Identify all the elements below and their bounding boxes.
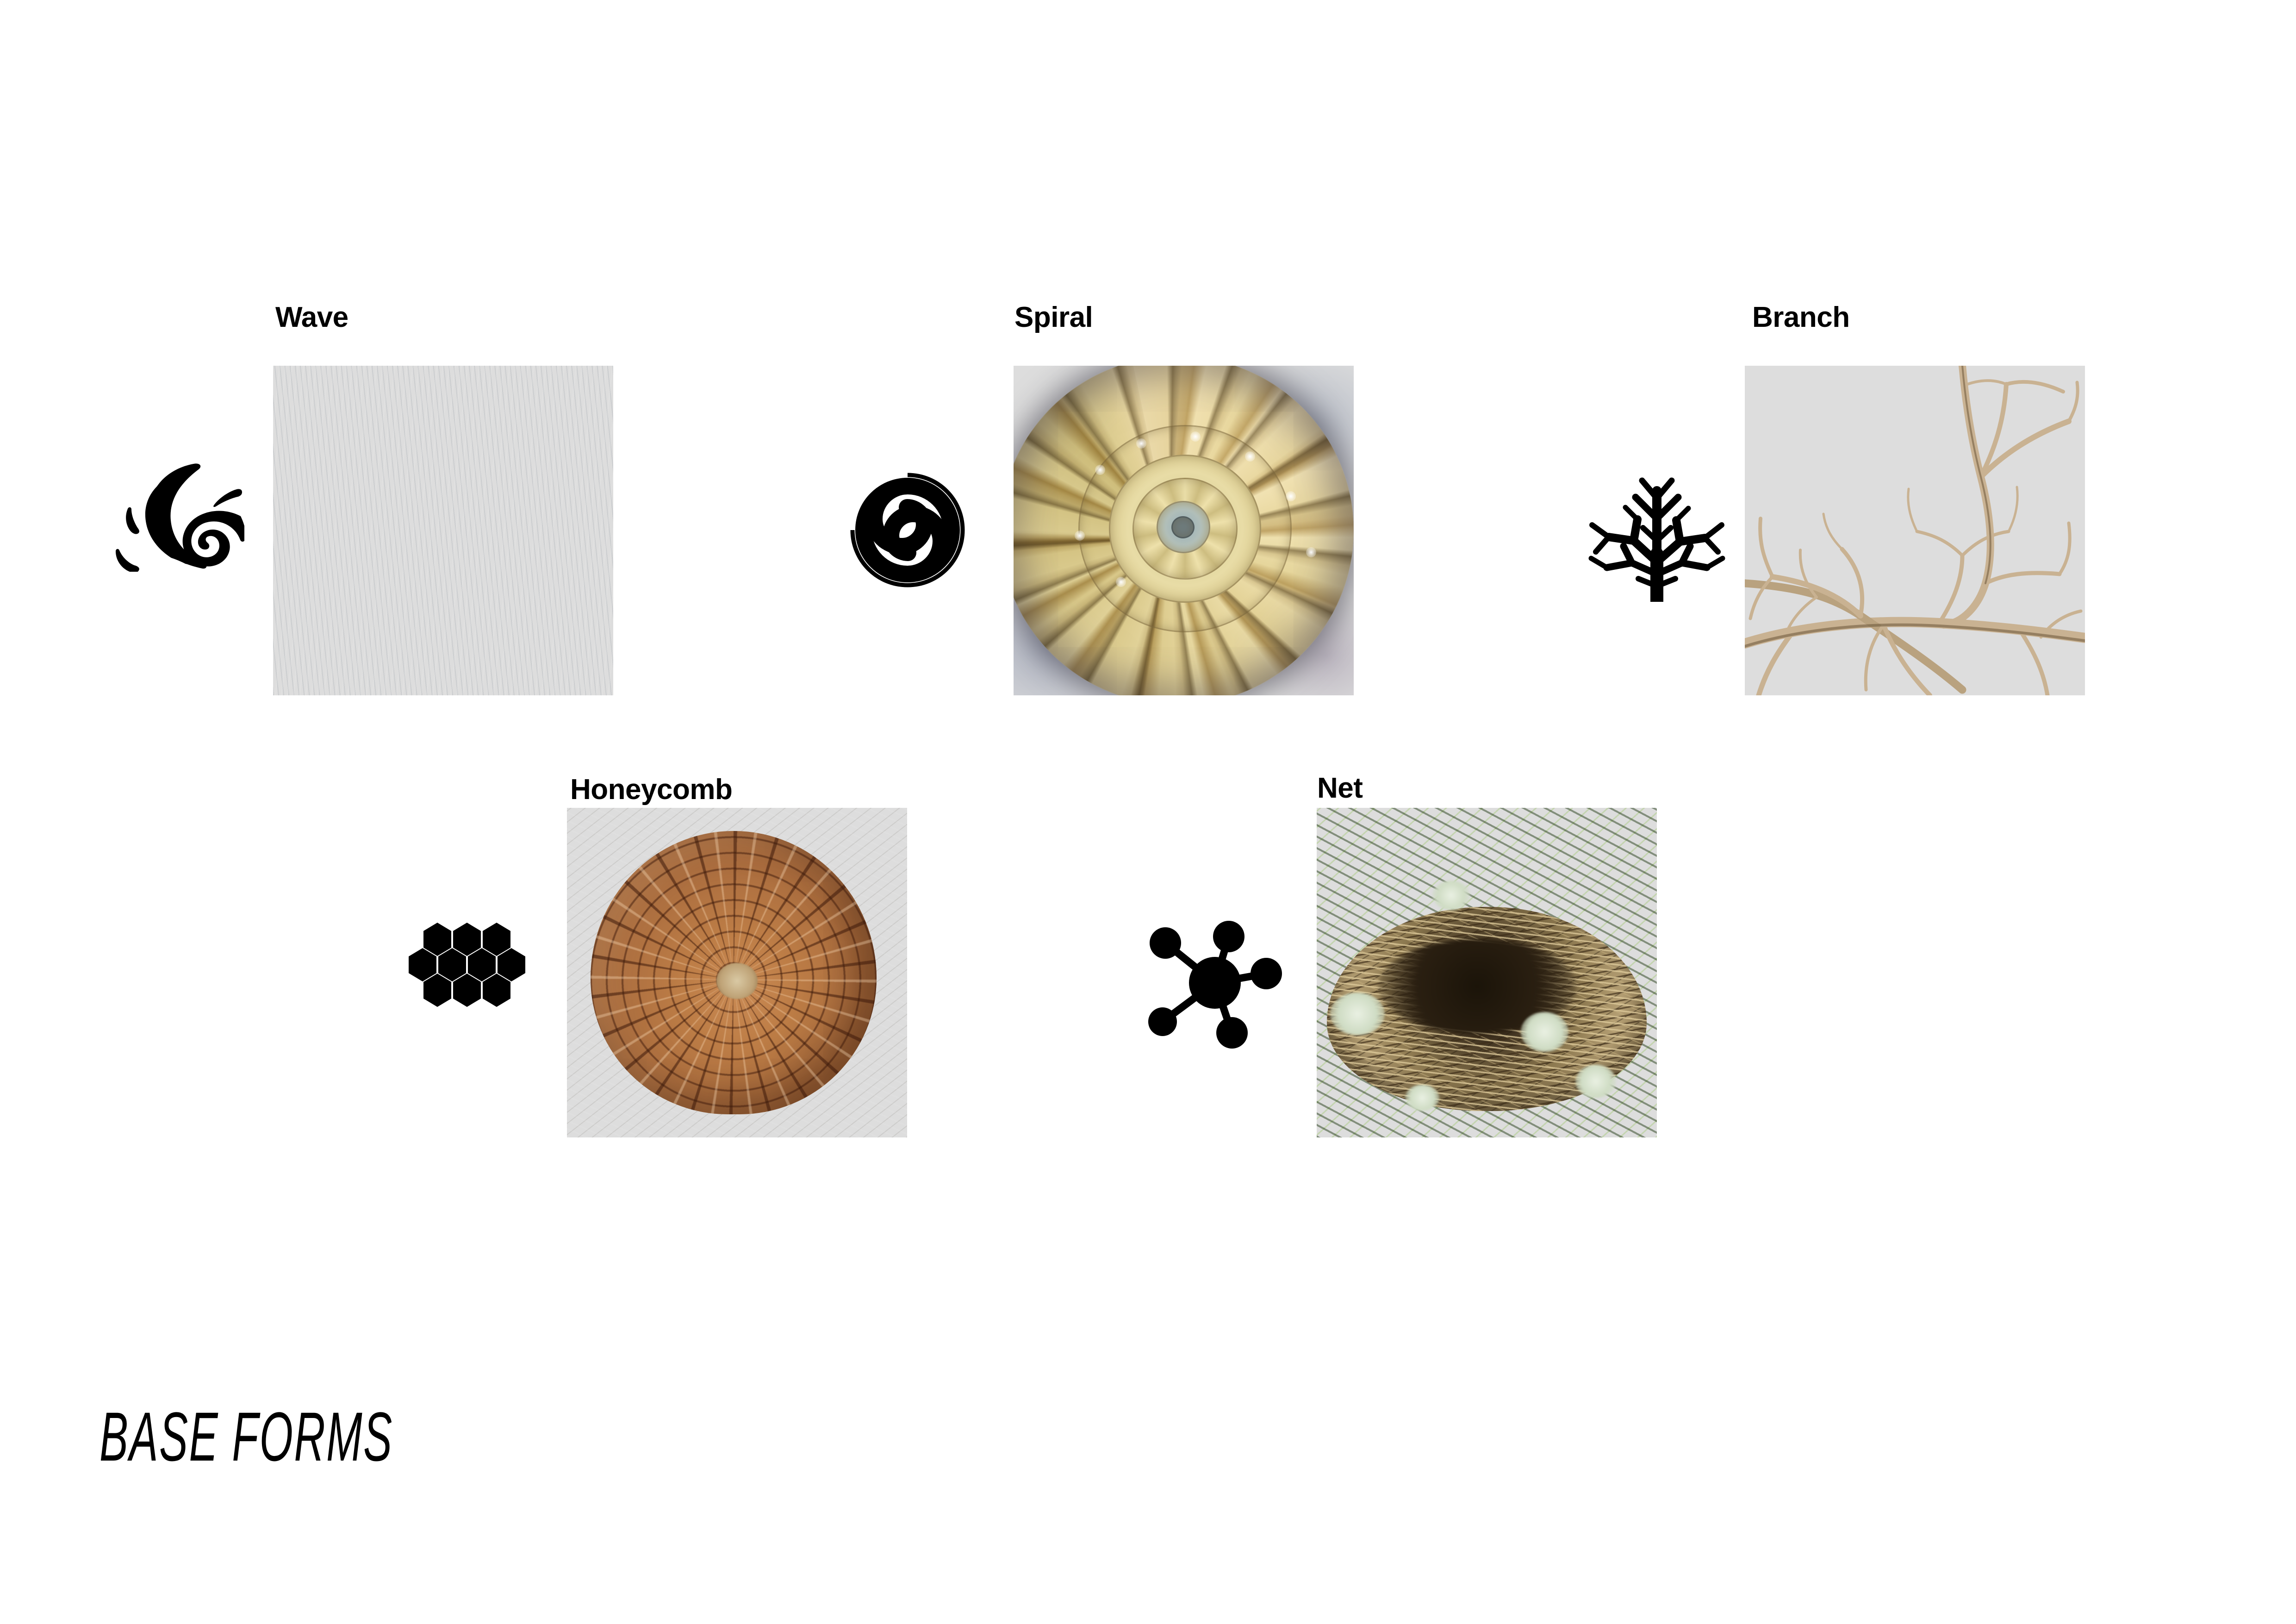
bare-branches-photo: [1745, 366, 2085, 695]
nautilus-shell-photo: [1014, 366, 1354, 695]
honeycomb-icon: [407, 919, 541, 1035]
item-label-net: Net: [1317, 774, 1363, 803]
tree-branch-icon: [1587, 463, 1726, 602]
pine-cone-photo: [567, 808, 907, 1137]
ocean-waves-photo: [273, 366, 613, 695]
item-label-wave: Wave: [275, 303, 348, 332]
slide-canvas: Wave Spiral: [0, 0, 2296, 1624]
item-label-spiral: Spiral: [1014, 303, 1093, 332]
item-label-honeycomb: Honeycomb: [570, 775, 732, 804]
wave-icon: [106, 461, 244, 572]
item-label-branch: Branch: [1752, 303, 1850, 332]
page-title: BASE FORMS: [100, 1402, 393, 1471]
network-node-icon: [1148, 914, 1287, 1049]
bird-nest-photo: [1317, 808, 1657, 1137]
spiral-icon: [850, 472, 965, 588]
